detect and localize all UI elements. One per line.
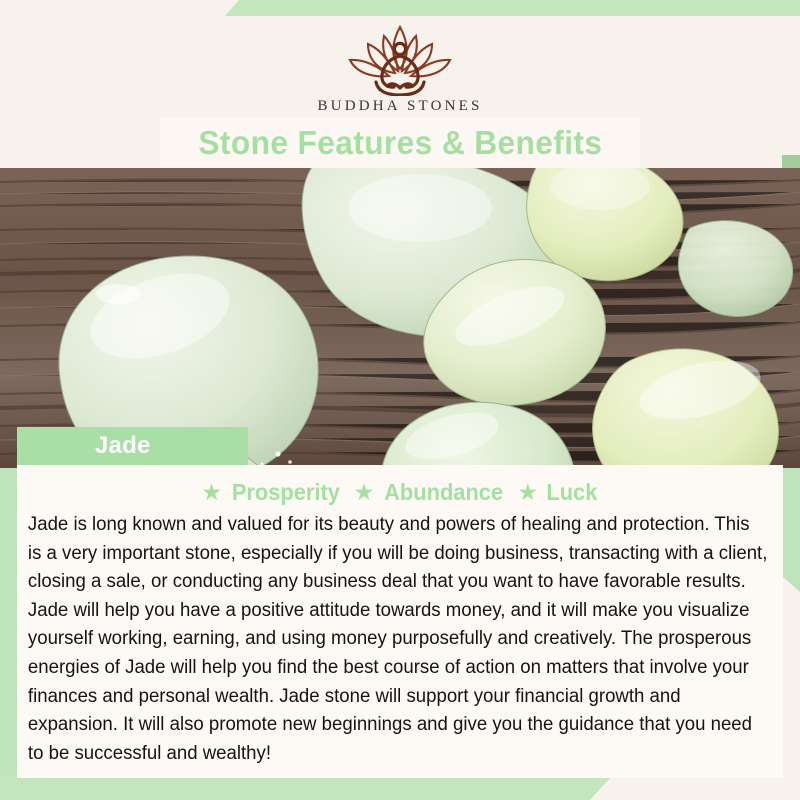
star-icon: ★: [354, 481, 375, 504]
bottom-green-ribbon: [0, 776, 612, 800]
stone-name-label: Jade: [17, 427, 248, 465]
infographic-page: BUDDHA STONES Stone Features & Benefits: [0, 0, 800, 800]
benefit-label: Prosperity: [232, 479, 340, 506]
star-icon: ★: [201, 481, 222, 504]
benefit-label: Abundance: [384, 479, 503, 506]
benefit-label: Luck: [546, 479, 597, 506]
benefit-item: ★ Prosperity: [201, 479, 342, 506]
right-body-green-ribbon: [782, 460, 800, 592]
lotus-meditation-icon: [326, 22, 474, 96]
jade-stones-photo: [0, 168, 800, 468]
top-green-ribbon: [225, 0, 800, 16]
stone-name-text: Jade: [95, 432, 151, 460]
brand-header: BUDDHA STONES: [0, 16, 800, 118]
content-card: ★ Prosperity ★ Abundance ★ Luck Jade is …: [17, 465, 783, 778]
brand-logo: BUDDHA STONES: [285, 22, 515, 115]
stone-description: Jade is long known and valued for its be…: [26, 511, 769, 768]
brand-name: BUDDHA STONES: [285, 98, 515, 115]
photo-illustration: [0, 168, 800, 468]
benefit-item: ★ Abundance: [354, 479, 507, 506]
page-title: Stone Features & Benefits: [198, 124, 602, 162]
star-icon: ★: [517, 481, 538, 504]
left-body-green-ribbon: [0, 423, 18, 786]
title-banner: Stone Features & Benefits: [160, 118, 640, 168]
benefit-item: ★ Luck: [517, 479, 598, 506]
benefits-row: ★ Prosperity ★ Abundance ★ Luck: [26, 477, 774, 507]
